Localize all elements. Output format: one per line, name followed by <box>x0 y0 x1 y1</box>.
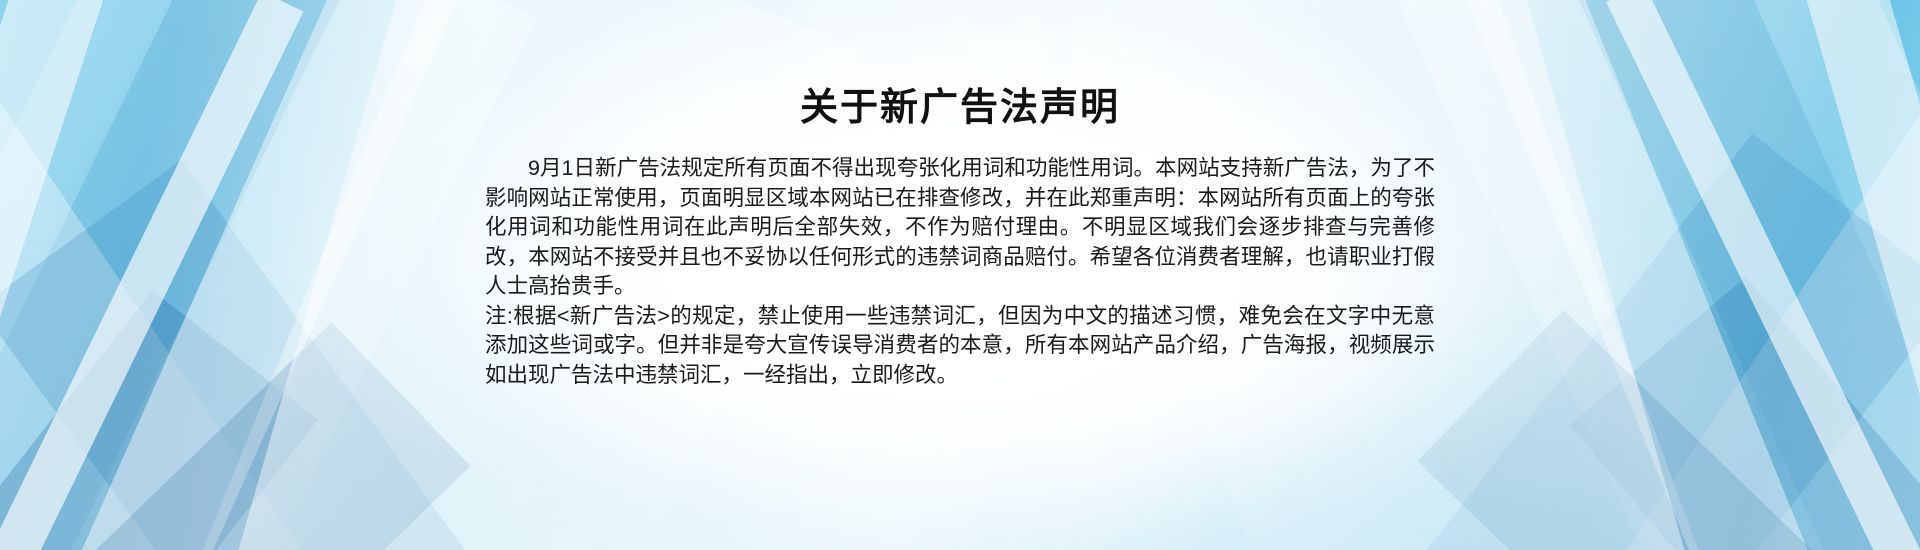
notice-paragraph-1: 9月1日新广告法规定所有页面不得出现夸张化用词和功能性用词。本网站支持新广告法，… <box>485 154 1435 302</box>
page-title: 关于新广告法声明 <box>0 0 1920 130</box>
notice-content: 关于新广告法声明 9月1日新广告法规定所有页面不得出现夸张化用词和功能性用词。本… <box>0 0 1920 390</box>
notice-body: 9月1日新广告法规定所有页面不得出现夸张化用词和功能性用词。本网站支持新广告法，… <box>485 130 1435 390</box>
notice-paragraph-2: 注:根据<新广告法>的规定，禁止使用一些违禁词汇，但因为中文的描述习惯，难免会在… <box>485 302 1435 391</box>
advertising-law-statement-banner: 关于新广告法声明 9月1日新广告法规定所有页面不得出现夸张化用词和功能性用词。本… <box>0 0 1920 550</box>
